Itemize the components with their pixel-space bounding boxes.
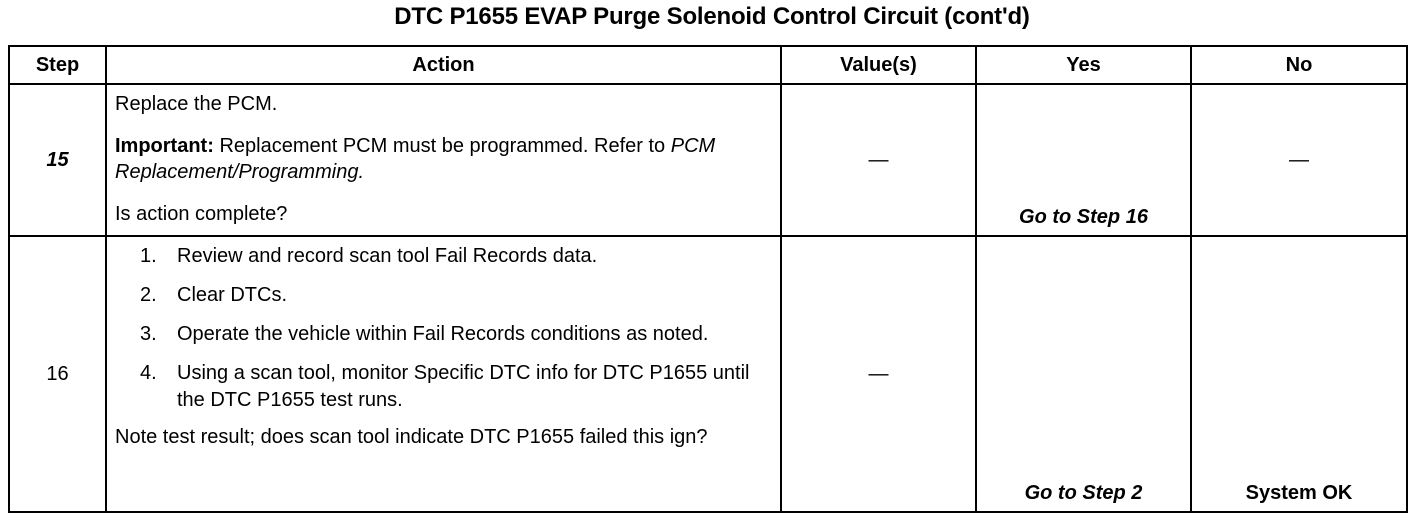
no-cell-16: System OK: [1191, 236, 1407, 512]
yes-action-text: Go to Step 2: [1025, 482, 1143, 505]
table-row: 15 Replace the PCM. Important: Replaceme…: [9, 84, 1407, 236]
list-item: 1. Review and record scan tool Fail Reco…: [115, 243, 772, 270]
important-body: Replacement PCM must be programmed. Refe…: [214, 135, 671, 157]
value-dash: —: [869, 364, 889, 384]
action-cell-15: Replace the PCM. Important: Replacement …: [106, 84, 781, 236]
column-header-action: Action: [106, 46, 781, 84]
yes-action-text: Go to Step 16: [1019, 206, 1148, 229]
list-item-text: Clear DTCs.: [177, 284, 287, 306]
list-item: 3. Operate the vehicle within Fail Recor…: [115, 321, 772, 348]
no-dash: —: [1289, 150, 1309, 170]
step-number: 15: [46, 149, 68, 172]
no-cell-15: —: [1191, 84, 1407, 236]
list-marker: 4.: [140, 360, 168, 387]
diagnostic-table: Step Action Value(s) Yes No 15 Replace t…: [8, 45, 1408, 513]
list-marker: 1.: [140, 243, 168, 270]
table-row: 16 1. Review and record scan tool Fail R…: [9, 236, 1407, 512]
action-important-note: Important: Replacement PCM must be progr…: [115, 133, 772, 185]
column-header-value: Value(s): [781, 46, 976, 84]
yes-cell-16: Go to Step 2: [976, 236, 1191, 512]
table-header-row: Step Action Value(s) Yes No: [9, 46, 1407, 84]
value-cell-15: —: [781, 84, 976, 236]
column-header-yes: Yes: [976, 46, 1191, 84]
action-note-question: Note test result; does scan tool indicat…: [115, 424, 772, 451]
action-line-replace-pcm: Replace the PCM.: [115, 91, 772, 117]
step-cell-15: 15: [9, 84, 106, 236]
action-step-list: 1. Review and record scan tool Fail Reco…: [115, 243, 772, 414]
list-marker: 3.: [140, 321, 168, 348]
list-item-text: Using a scan tool, monitor Specific DTC …: [177, 362, 749, 411]
step-cell-16: 16: [9, 236, 106, 512]
document-page: DTC P1655 EVAP Purge Solenoid Control Ci…: [0, 0, 1424, 524]
yes-cell-15: Go to Step 16: [976, 84, 1191, 236]
list-item-text: Operate the vehicle within Fail Records …: [177, 323, 708, 345]
list-item: 2. Clear DTCs.: [115, 282, 772, 309]
no-action-text: System OK: [1246, 482, 1353, 505]
column-header-step: Step: [9, 46, 106, 84]
value-dash: —: [869, 150, 889, 170]
list-item: 4. Using a scan tool, monitor Specific D…: [115, 360, 772, 414]
action-cell-16: 1. Review and record scan tool Fail Reco…: [106, 236, 781, 512]
value-cell-16: —: [781, 236, 976, 512]
step-number: 16: [46, 363, 68, 386]
important-label: Important:: [115, 135, 214, 157]
list-marker: 2.: [140, 282, 168, 309]
list-item-text: Review and record scan tool Fail Records…: [177, 245, 597, 267]
action-question: Is action complete?: [115, 201, 772, 227]
page-title: DTC P1655 EVAP Purge Solenoid Control Ci…: [0, 2, 1424, 32]
column-header-no: No: [1191, 46, 1407, 84]
